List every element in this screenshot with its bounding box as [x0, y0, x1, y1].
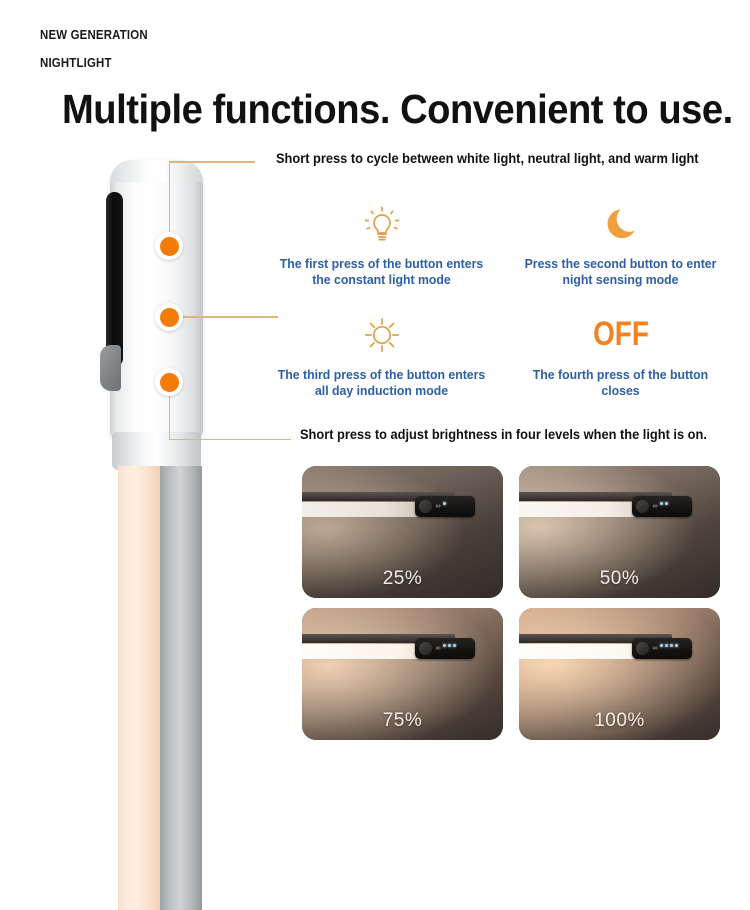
leader-line-3-vertical — [169, 394, 171, 440]
product-side-button — [100, 345, 121, 391]
thumbnail-led-row — [660, 644, 678, 647]
product-housing-top — [110, 160, 203, 182]
thumbnail-control-module: ∞ — [632, 638, 692, 659]
product-housing — [110, 160, 203, 440]
thumbnail-knob-icon — [419, 642, 432, 655]
brightness-level-label: 100% — [519, 710, 720, 732]
callout-marker-1[interactable] — [155, 232, 183, 260]
product-aluminium-bar — [160, 466, 202, 910]
product-light-diffuser — [118, 466, 160, 910]
led-indicator — [670, 644, 673, 647]
callout-marker-2[interactable] — [155, 303, 183, 331]
thumbnail-module-glyph: ∞ — [436, 645, 441, 652]
leader-line-1-vertical — [169, 162, 171, 234]
brightness-thumbnail[interactable]: ∞ 100% — [519, 608, 720, 740]
feature-night-sensing: Press the second button to enter night s… — [501, 196, 740, 289]
feature-label: The first press of the button enters the… — [274, 256, 490, 289]
brightness-level-label: 25% — [302, 568, 503, 590]
crescent-moon-icon — [596, 196, 646, 252]
product-sensor-strip — [106, 192, 123, 367]
leader-line-2-horizontal — [182, 316, 278, 318]
thumbnail-module-glyph: ∞ — [653, 645, 658, 652]
thumbnail-led-row — [443, 644, 456, 647]
thumbnail-knob-icon — [636, 500, 649, 513]
callout-marker-3[interactable] — [155, 368, 183, 396]
led-indicator — [453, 644, 456, 647]
led-indicator — [443, 502, 446, 505]
thumbnail-led-row — [443, 502, 446, 505]
led-indicator — [660, 644, 663, 647]
brightness-thumbnail[interactable]: ∞ 75% — [302, 608, 503, 740]
leader-line-3-horizontal — [169, 439, 291, 441]
brightness-thumbnail[interactable]: ∞ 25% — [302, 466, 503, 598]
led-indicator — [660, 502, 663, 505]
callout-text-color-cycle: Short press to cycle between white light… — [276, 151, 699, 166]
thumbnail-knob-icon — [636, 642, 649, 655]
feature-grid: The first press of the button enters the… — [262, 196, 740, 400]
lightbulb-icon — [357, 196, 407, 252]
led-indicator — [443, 644, 446, 647]
feature-label: Press the second button to enter night s… — [513, 256, 729, 289]
feature-label: The fourth press of the button closes — [513, 367, 729, 400]
led-indicator — [448, 644, 451, 647]
leader-line-1-horizontal — [169, 161, 255, 163]
led-indicator — [665, 502, 668, 505]
thumbnail-diffuser — [519, 502, 646, 517]
thumbnail-led-row — [660, 502, 668, 505]
brightness-level-label: 75% — [302, 710, 503, 732]
feature-label: The third press of the button enters all… — [274, 367, 490, 400]
thumbnail-control-module: ∞ — [632, 496, 692, 517]
brightness-level-label: 50% — [519, 568, 720, 590]
sun-icon — [357, 307, 407, 363]
led-indicator — [675, 644, 678, 647]
thumbnail-knob-icon — [419, 500, 432, 513]
feature-all-day-induction: The third press of the button enters all… — [262, 307, 501, 400]
thumbnail-module-glyph: ∞ — [653, 503, 658, 510]
thumbnail-diffuser — [302, 502, 421, 517]
thumbnail-module-glyph: ∞ — [436, 503, 441, 510]
brightness-thumbnail[interactable]: ∞ 50% — [519, 466, 720, 598]
page-title: Multiple functions. Convenient to use. — [62, 86, 733, 133]
feature-off: OFF The fourth press of the button close… — [501, 307, 740, 400]
feature-constant-light: The first press of the button enters the… — [262, 196, 501, 289]
eyebrow-line-1: NEW GENERATION — [40, 27, 148, 42]
eyebrow-line-2: NIGHTLIGHT — [40, 55, 112, 70]
off-label: OFF — [593, 315, 649, 354]
thumbnail-control-module: ∞ — [415, 496, 475, 517]
off-text-icon: OFF — [587, 307, 655, 363]
callout-text-brightness: Short press to adjust brightness in four… — [300, 427, 707, 442]
led-indicator — [665, 644, 668, 647]
brightness-thumbnail-grid: ∞ 25% ∞ 50% ∞ — [302, 466, 720, 740]
thumbnail-control-module: ∞ — [415, 638, 475, 659]
